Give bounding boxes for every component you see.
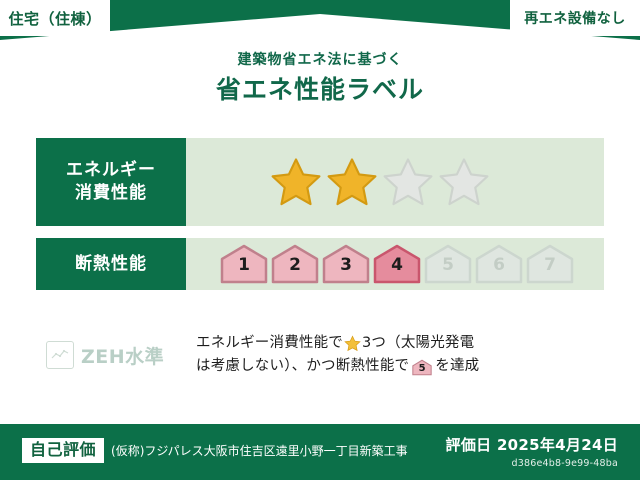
insulation-level-2: 2 <box>271 244 319 284</box>
zeh-badge-label: ZEH水準 <box>81 342 164 369</box>
energy-performance-label-line1: エネルギー <box>66 159 156 182</box>
zeh-note-line-1: エネルギー消費性能で 3つ（太陽光発電 <box>196 332 479 355</box>
insulation-performance-label: 断熱性能 <box>36 238 186 290</box>
insulation-level-6: 6 <box>475 244 523 284</box>
footer-left: 自己評価 (仮称)フジパレス大阪市住吉区遠里小野一丁目新築工事 <box>22 438 408 463</box>
energy-performance-body <box>186 138 604 226</box>
insulation-level-number: 6 <box>475 257 523 274</box>
inline-house-icon: 5 <box>412 359 432 376</box>
star-icon-empty <box>382 156 434 208</box>
star-icon-empty <box>438 156 490 208</box>
zeh-note-line1-part-a: エネルギー消費性能で <box>196 332 343 355</box>
insulation-level-3: 3 <box>322 244 370 284</box>
zeh-note-block: ZEH水準 エネルギー消費性能で 3つ（太陽光発電 は考慮しない）、かつ断熱性能… <box>36 332 604 379</box>
building-type-tag: 住宅（住棟） <box>0 0 110 36</box>
insulation-performance-label-line1: 断熱性能 <box>75 253 147 276</box>
zeh-icon <box>46 341 74 369</box>
title-subtitle: 建築物省エネ法に基づく <box>0 52 640 69</box>
energy-performance-label: エネルギー 消費性能 <box>36 138 186 226</box>
insulation-level-5: 5 <box>424 244 472 284</box>
zeh-note-line-2: は考慮しない）、かつ断熱性能で 5 を達成 <box>196 355 479 378</box>
title-main: 省エネ性能ラベル <box>0 75 640 105</box>
energy-performance-row: エネルギー 消費性能 <box>36 138 604 226</box>
insulation-level-number: 2 <box>271 257 319 274</box>
insulation-level-number: 1 <box>220 257 268 274</box>
zeh-note-line2-part-a: は考慮しない）、かつ断熱性能で <box>196 355 409 378</box>
insulation-performance-body: 1234567 <box>186 238 604 290</box>
project-name: (仮称)フジパレス大阪市住吉区遠里小野一丁目新築工事 <box>111 442 408 459</box>
evaluation-id: d386e4b8-9e99-48ba <box>446 458 618 469</box>
zeh-note-line2-part-b: を達成 <box>435 355 479 378</box>
zeh-note-line1-part-b: 3つ（太陽光発電 <box>362 332 474 355</box>
insulation-level-7: 7 <box>526 244 574 284</box>
renewable-energy-tag-label: 再エネ設備なし <box>524 8 626 28</box>
insulation-performance-row: 断熱性能 1234567 <box>36 238 604 290</box>
renewable-energy-tag: 再エネ設備なし <box>510 0 640 36</box>
star-icon-filled <box>326 156 378 208</box>
insulation-level-number: 4 <box>373 257 421 274</box>
energy-performance-label-line2: 消費性能 <box>75 182 147 205</box>
insulation-level-1: 1 <box>220 244 268 284</box>
insulation-level-scale: 1234567 <box>220 244 574 284</box>
zeh-note-text: エネルギー消費性能で 3つ（太陽光発電 は考慮しない）、かつ断熱性能で 5 を達… <box>196 332 479 379</box>
energy-label-root: 住宅（住棟） 再エネ設備なし 建築物省エネ法に基づく 省エネ性能ラベル エネルギ… <box>0 0 640 480</box>
self-evaluation-badge: 自己評価 <box>22 438 104 463</box>
label-footer: 自己評価 (仮称)フジパレス大阪市住吉区遠里小野一丁目新築工事 評価日 2025… <box>0 424 640 480</box>
star-rating <box>270 156 490 208</box>
insulation-level-number: 3 <box>322 257 370 274</box>
zeh-badge: ZEH水準 <box>46 341 196 369</box>
insulation-level-4: 4 <box>373 244 421 284</box>
page-title: 建築物省エネ法に基づく 省エネ性能ラベル <box>0 52 640 105</box>
inline-house-number: 5 <box>412 364 432 374</box>
insulation-level-number: 5 <box>424 257 472 274</box>
star-icon-filled <box>270 156 322 208</box>
footer-right: 評価日 2025年4月24日 d386e4b8-9e99-48ba <box>446 434 618 469</box>
insulation-level-number: 7 <box>526 257 574 274</box>
building-type-tag-label: 住宅（住棟） <box>8 8 101 29</box>
evaluation-date: 評価日 2025年4月24日 <box>446 434 618 455</box>
inline-star-icon <box>344 335 361 352</box>
